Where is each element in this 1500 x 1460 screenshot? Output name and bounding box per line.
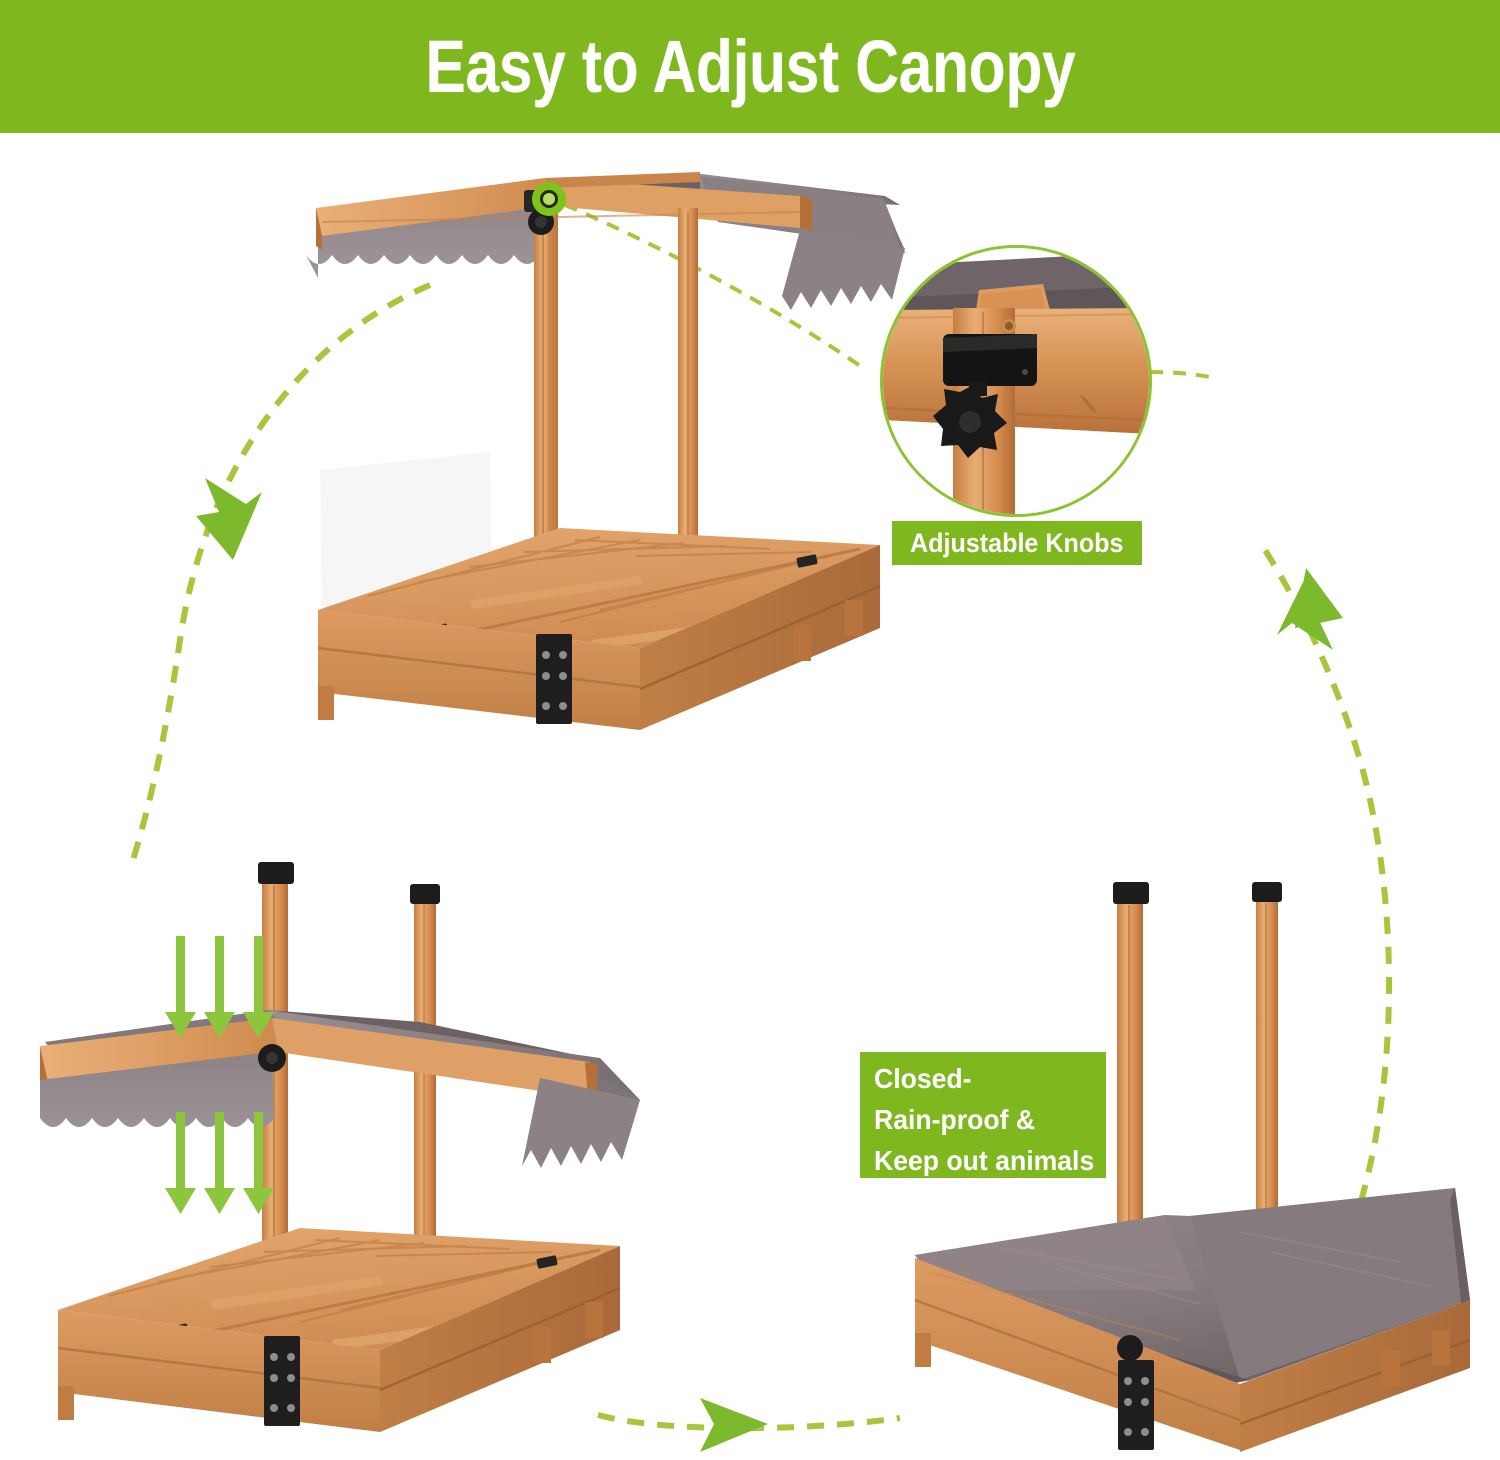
dashed-connector-bottom: [598, 1398, 900, 1452]
knob-callout-label-text: Adjustable Knobs: [910, 528, 1123, 559]
knob-closeup-art: [883, 248, 1149, 514]
bottom-left-illustration: [40, 862, 640, 1432]
knob-detail-callout: [880, 245, 1152, 517]
product-illustration-layer: [0, 0, 1500, 1460]
down-arrows-upper: [165, 936, 274, 1038]
info-line-2: Rain-proof &: [874, 1099, 1094, 1140]
infographic-page: Easy to Adjust Canopy: [0, 0, 1500, 1460]
header-banner: Easy to Adjust Canopy: [0, 0, 1500, 133]
dashed-connector-left: [133, 285, 430, 860]
page-title: Easy to Adjust Canopy: [425, 24, 1075, 109]
knob-callout-label: Adjustable Knobs: [892, 521, 1142, 565]
info-line-3: Keep out animals: [874, 1140, 1094, 1181]
closed-state-info-box: Closed- Rain-proof & Keep out animals: [860, 1052, 1106, 1178]
info-line-1: Closed-: [874, 1058, 1094, 1099]
down-arrows-lower: [165, 1112, 274, 1214]
dashed-connector-right: [1262, 545, 1389, 1230]
top-product-illustration: [306, 172, 905, 730]
